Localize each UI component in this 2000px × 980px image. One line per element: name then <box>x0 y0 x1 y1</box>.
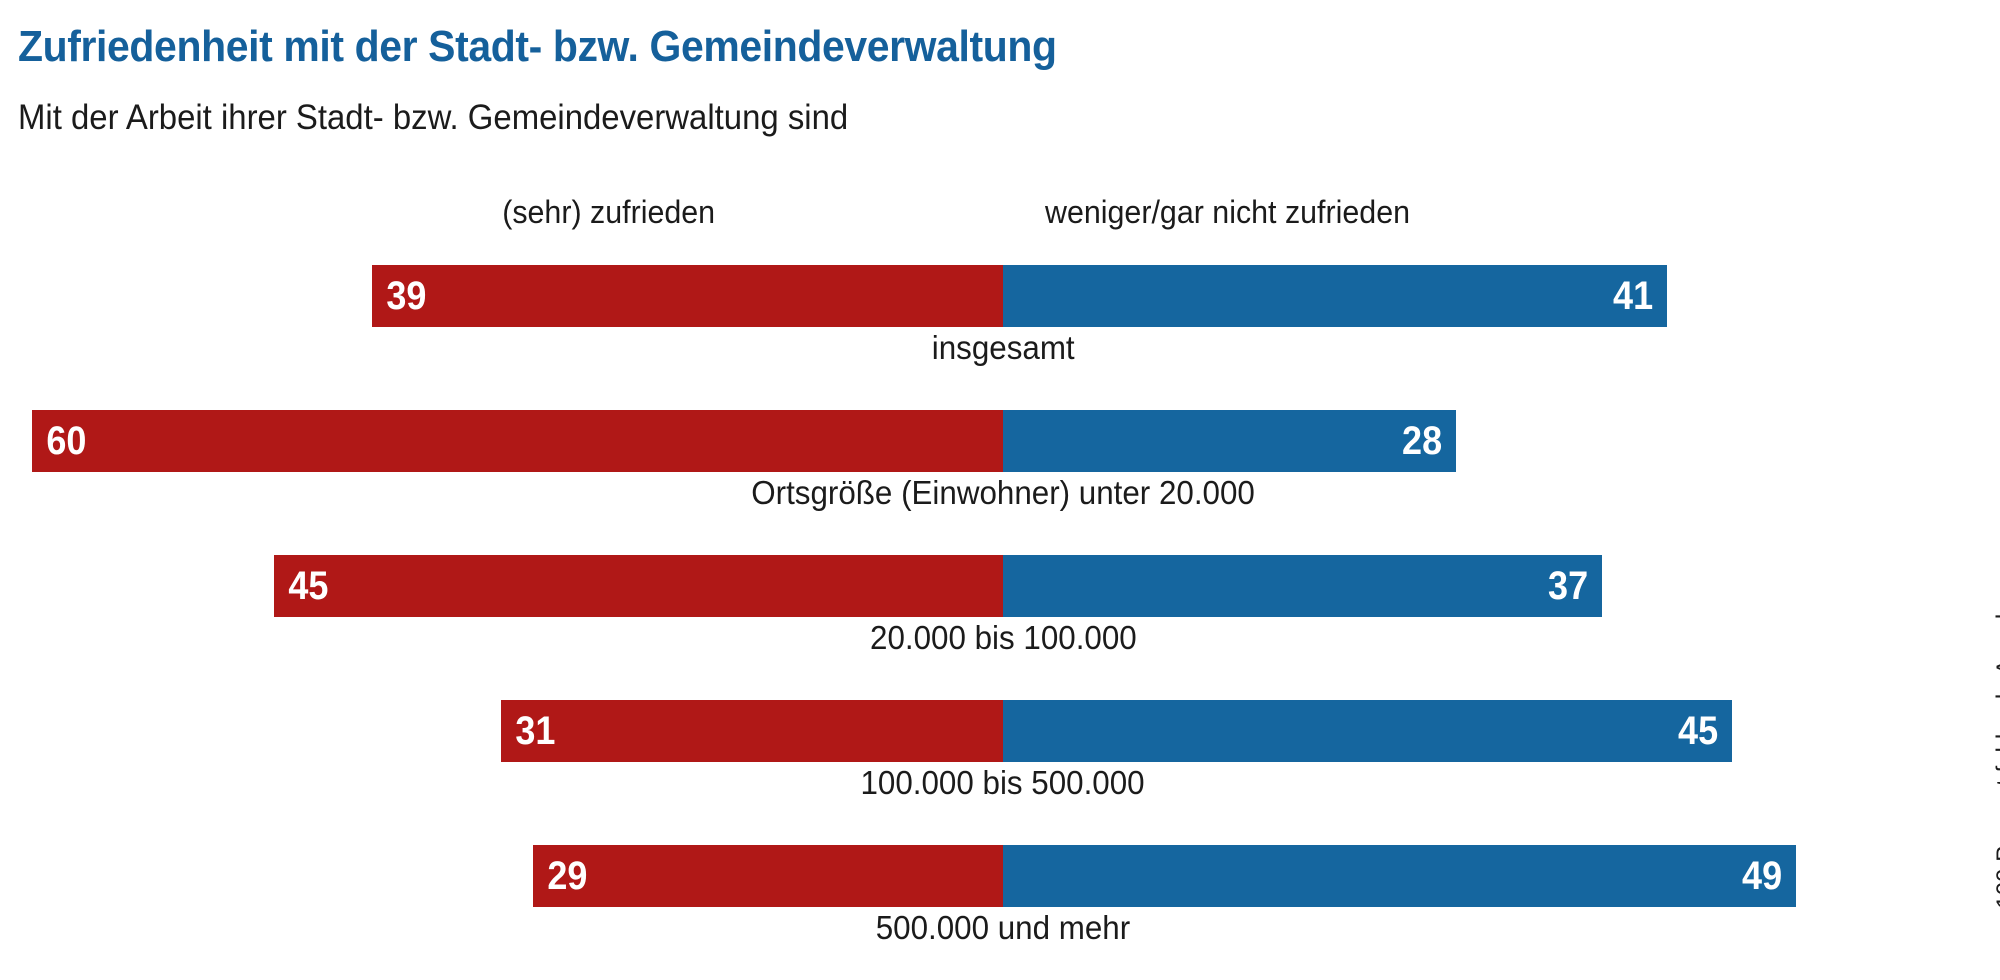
category-label: insgesamt <box>0 329 2000 367</box>
bar-row: 60 28 Ortsgröße (Einwohner) unter 20.000 <box>0 410 2000 555</box>
bar-value-left: 39 <box>372 276 441 316</box>
bar-value-right: 49 <box>1727 856 1796 896</box>
bar-segment-nicht-zufrieden: 41 <box>1003 265 1667 327</box>
bar-value-right: 45 <box>1663 711 1732 751</box>
bar-segment-nicht-zufrieden: 45 <box>1003 700 1732 762</box>
category-label: 100.000 bis 500.000 <box>0 764 2000 802</box>
category-label: 500.000 und mehr <box>0 909 2000 947</box>
category-label-text: 20.000 bis 100.000 <box>870 619 1137 657</box>
category-label-text: Ortsgröße (Einwohner) unter 20.000 <box>751 474 1255 512</box>
bar-track: 60 28 <box>0 410 2000 472</box>
category-label-text: 500.000 und mehr <box>876 909 1130 947</box>
bar-segment-zufrieden: 31 <box>501 700 1003 762</box>
bar-track: 45 37 <box>0 555 2000 617</box>
category-label: 20.000 bis 100.000 <box>0 619 2000 657</box>
footnote-line-1: an 100 Prozent fehlende Angaben = <box>1990 270 2000 942</box>
bar-value-left: 31 <box>501 711 570 751</box>
category-label-text: 100.000 bis 500.000 <box>861 764 1145 802</box>
bar-segment-nicht-zufrieden: 49 <box>1003 845 1796 907</box>
diverging-bar-chart: 39 41 insgesamt 60 28 Ortsgröße (Einwohn… <box>0 0 2000 980</box>
bar-row: 29 49 500.000 und mehr <box>0 845 2000 980</box>
bar-value-left: 45 <box>274 566 343 606</box>
bar-track: 31 45 <box>0 700 2000 762</box>
bar-segment-nicht-zufrieden: 37 <box>1003 555 1602 617</box>
bar-value-left: 60 <box>32 421 101 461</box>
bar-row: 39 41 insgesamt <box>0 265 2000 410</box>
bar-value-right: 41 <box>1598 276 1667 316</box>
bar-segment-zufrieden: 39 <box>372 265 1003 327</box>
bar-segment-zufrieden: 60 <box>32 410 1003 472</box>
bar-segment-nicht-zufrieden: 28 <box>1003 410 1456 472</box>
bar-row: 31 45 100.000 bis 500.000 <box>0 700 2000 845</box>
bar-segment-zufrieden: 45 <box>274 555 1003 617</box>
category-label: Ortsgröße (Einwohner) unter 20.000 <box>0 474 2000 512</box>
bar-value-right: 28 <box>1387 421 1456 461</box>
bar-value-left: 29 <box>533 856 602 896</box>
bar-track: 29 49 <box>0 845 2000 907</box>
category-label-text: insgesamt <box>932 329 1075 367</box>
bar-row: 45 37 20.000 bis 100.000 <box>0 555 2000 700</box>
bar-segment-zufrieden: 29 <box>533 845 1003 907</box>
bar-track: 39 41 <box>0 265 2000 327</box>
bar-value-right: 37 <box>1533 566 1602 606</box>
infographic-page: Zufriedenheit mit der Stadt- bzw. Gemein… <box>0 0 2000 980</box>
chart-footnote: an 100 Prozent fehlende Angaben = weiß n… <box>1878 270 1998 950</box>
